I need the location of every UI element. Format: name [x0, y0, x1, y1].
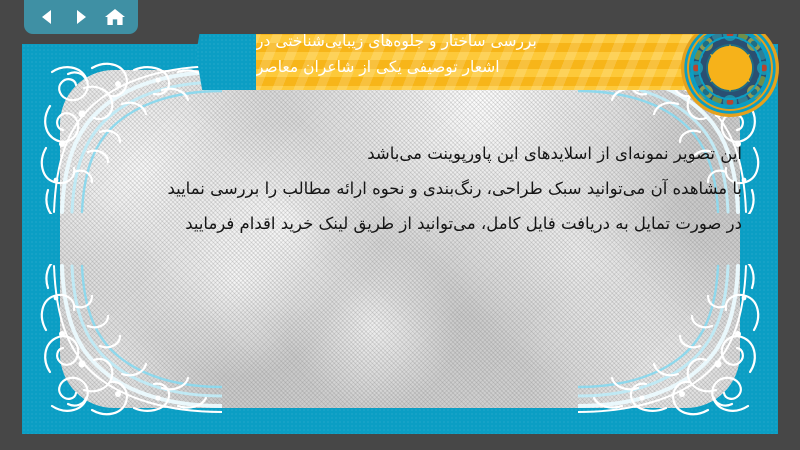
home-icon	[104, 7, 126, 27]
home-button[interactable]	[101, 4, 129, 30]
top-nav-bar	[0, 0, 800, 34]
body-line-2: با مشاهده آن می‌توانید سبک طراحی، رنگ‌بن…	[82, 171, 742, 206]
nav-button-group	[24, 0, 138, 34]
back-button[interactable]	[33, 4, 61, 30]
forward-button[interactable]	[67, 4, 95, 30]
slide-body-text: این تصویر نمونه‌ای از اسلایدهای این پاور…	[82, 136, 742, 241]
triangle-right-icon	[71, 7, 91, 27]
title-line-2: اشعار توصیفی یکی از شاعران معاصر	[256, 54, 500, 80]
body-line-1: این تصویر نمونه‌ای از اسلایدهای این پاور…	[82, 136, 742, 171]
triangle-left-icon	[37, 7, 57, 27]
body-line-3: در صورت تمایل به دریافت فایل کامل، می‌تو…	[82, 206, 742, 241]
slide-frame: این تصویر نمونه‌ای از اسلایدهای این پاور…	[22, 44, 778, 434]
slide-viewer: این تصویر نمونه‌ای از اسلایدهای این پاور…	[0, 0, 800, 450]
